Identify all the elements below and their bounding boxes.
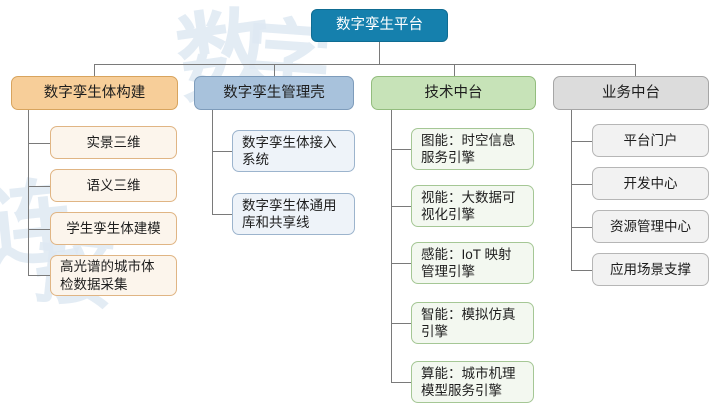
connector-branch3-spine	[391, 110, 392, 382]
connector-branch4-child1	[571, 141, 592, 142]
node-branch1-child-1[interactable]: 实景三维	[50, 126, 177, 159]
connector-root-drop	[379, 42, 380, 64]
node-branch3-child-1[interactable]: 图能：时空信息 服务引擎	[411, 128, 534, 170]
connector-branch1-drop	[94, 64, 95, 76]
connector-branch3-child4	[391, 323, 411, 324]
connector-branch3-drop	[454, 64, 455, 76]
node-branch4-child-1[interactable]: 平台门户	[592, 124, 709, 157]
node-root[interactable]: 数字孪生平台	[311, 9, 448, 42]
node-branch-1[interactable]: 数字孪生体构建	[11, 76, 178, 110]
node-branch2-child-2[interactable]: 数字孪生体通用 库和共享线	[232, 193, 355, 235]
node-branch3-child-2[interactable]: 视能：大数据可 视化引擎	[411, 185, 534, 227]
org-tree-diagram: 数 字 连 接 数字孪生平台 数字孪生体构建 数字孪生管理壳 技术中台 业务中台…	[0, 0, 720, 415]
connector-branch1-child1	[28, 143, 50, 144]
connector-branch1-spine	[28, 110, 29, 275]
node-branch-4[interactable]: 业务中台	[553, 76, 709, 110]
connector-branch1-child3	[28, 229, 50, 230]
connector-branch3-child5	[391, 382, 411, 383]
node-branch4-child-4[interactable]: 应用场景支撑	[592, 253, 709, 286]
node-branch3-child-4[interactable]: 智能：模拟仿真 引擎	[411, 302, 534, 344]
connector-branch2-drop	[274, 64, 275, 76]
node-branch3-child-3[interactable]: 感能：IoT 映射 管理引擎	[411, 242, 534, 284]
node-branch1-child-4[interactable]: 高光谱的城市体 检数据采集	[50, 255, 177, 296]
node-branch-2[interactable]: 数字孪生管理壳	[194, 76, 354, 110]
connector-branch4-child3	[571, 227, 592, 228]
connector-level2-bus	[94, 64, 635, 65]
connector-branch3-child2	[391, 206, 411, 207]
node-branch4-child-3[interactable]: 资源管理中心	[592, 210, 709, 243]
connector-branch1-child4	[28, 275, 50, 276]
connector-branch4-child4	[571, 270, 592, 271]
connector-branch4-spine	[571, 110, 572, 270]
connector-branch2-spine	[212, 110, 213, 214]
node-branch1-child-3[interactable]: 学生孪生体建模	[50, 212, 177, 245]
node-branch2-child-1[interactable]: 数字孪生体接入 系统	[232, 130, 355, 172]
node-branch4-child-2[interactable]: 开发中心	[592, 167, 709, 200]
connector-branch2-child1	[212, 151, 232, 152]
connector-branch4-child2	[571, 184, 592, 185]
connector-branch3-child1	[391, 149, 411, 150]
node-branch1-child-2[interactable]: 语义三维	[50, 169, 177, 202]
connector-branch3-child3	[391, 263, 411, 264]
node-branch-3[interactable]: 技术中台	[371, 76, 536, 110]
node-branch3-child-5[interactable]: 算能：城市机理 模型服务引擎	[411, 361, 534, 403]
connector-branch2-child2	[212, 214, 232, 215]
connector-branch4-drop	[635, 64, 636, 76]
connector-branch1-child2	[28, 186, 50, 187]
